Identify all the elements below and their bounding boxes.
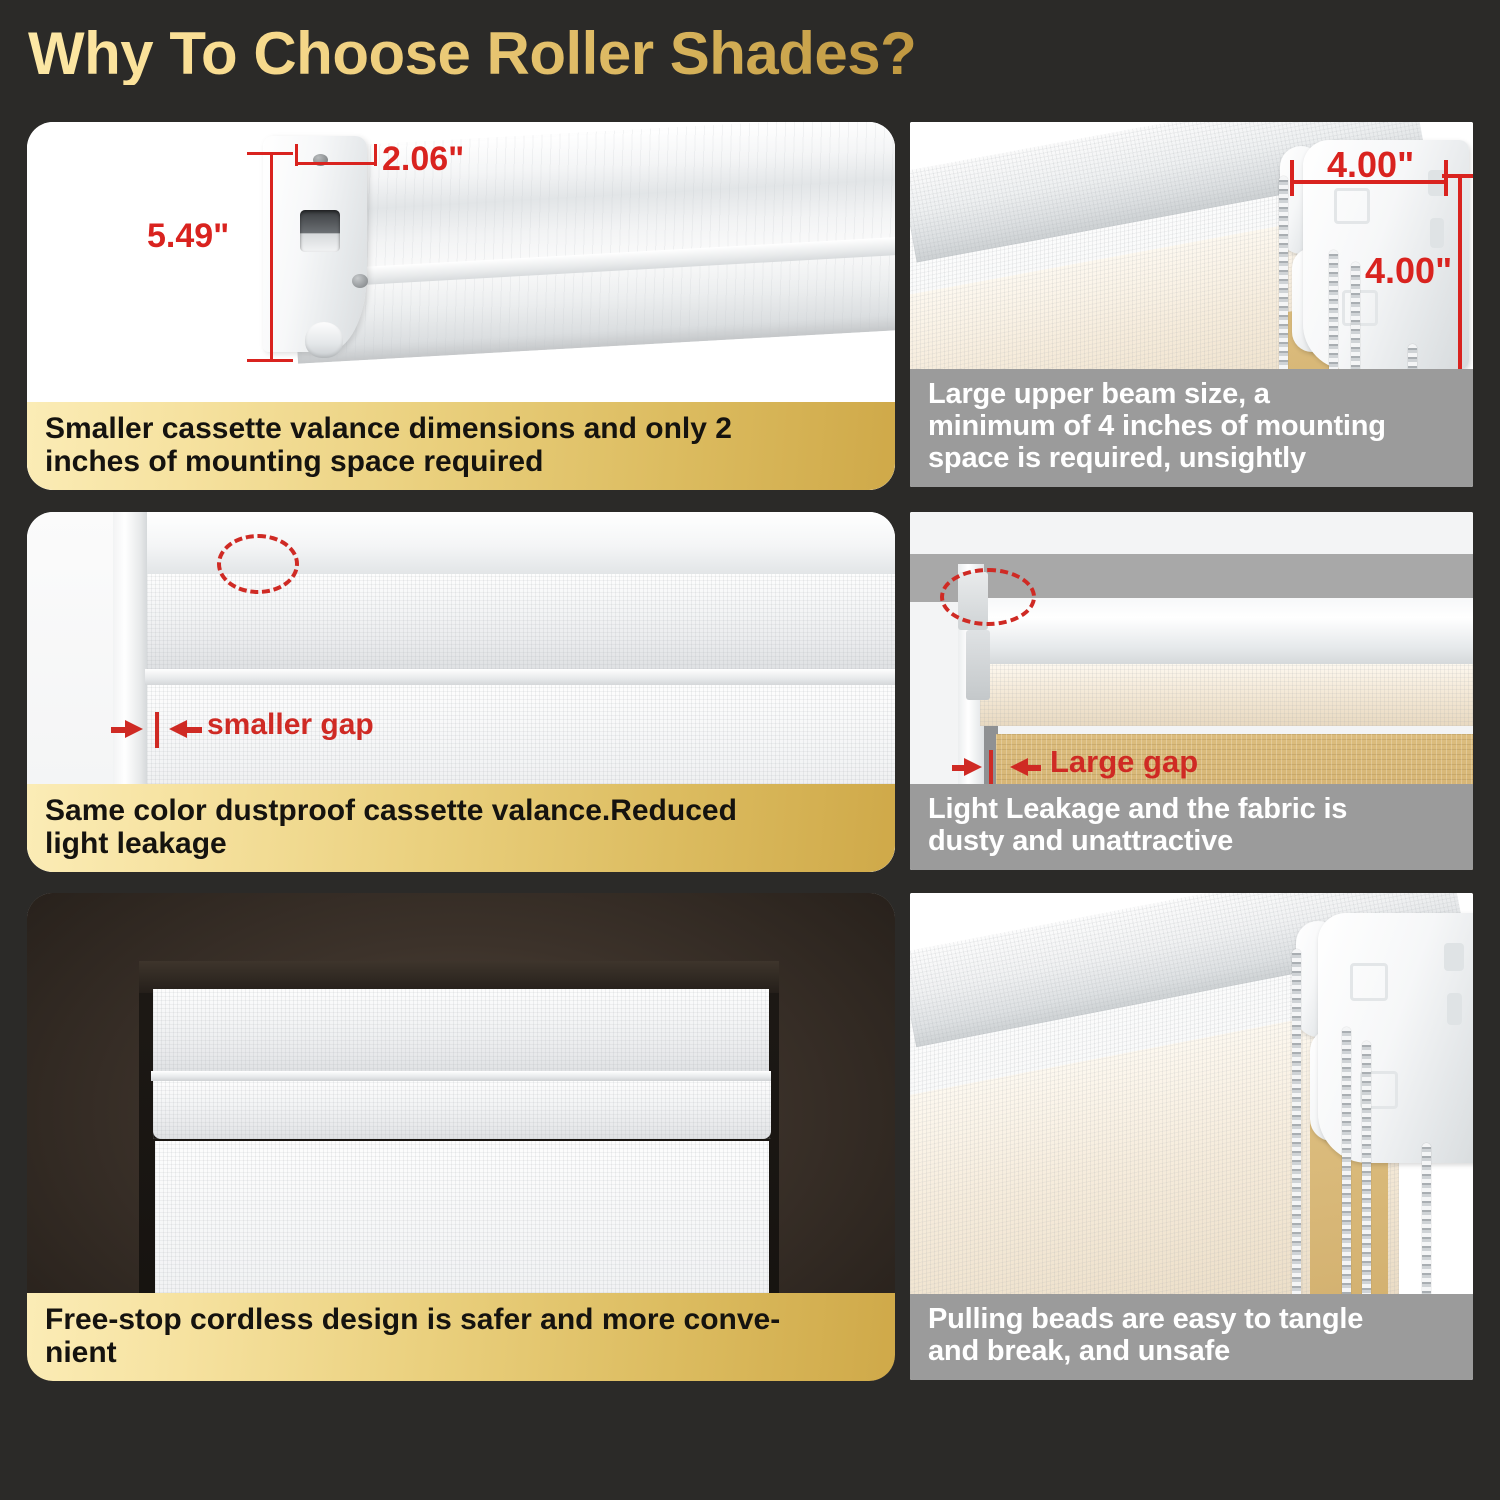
cassette-valance-lower	[153, 1081, 771, 1139]
gap-arrow-right-shaft	[1027, 765, 1041, 771]
dim-vertical-cap-top	[1442, 174, 1473, 178]
roller-tube	[970, 598, 1473, 664]
caption-line: dusty and unattractive	[928, 826, 1455, 858]
caption-line: Smaller cassette valance dimensions and …	[45, 412, 877, 445]
dimension-label-height: 5.49"	[147, 217, 229, 256]
caption-line: and break, and unsafe	[928, 1336, 1455, 1368]
fabric-texture	[286, 122, 895, 364]
bracket-slot-bottom	[1447, 993, 1462, 1025]
annotation-label-smaller-gap: smaller gap	[207, 708, 374, 742]
caption-line: Pulling beads are easy to tangle	[928, 1304, 1455, 1336]
dim-horizontal-cap-right	[374, 144, 377, 166]
dim-vertical-line	[1458, 174, 1462, 374]
panel-pro-smaller-gap: smaller gap Same color dustproof cassett…	[27, 512, 895, 872]
bracket-slot-bottom	[1430, 218, 1444, 248]
caption-pro-smaller-gap: Same color dustproof cassette valance.Re…	[27, 784, 895, 872]
bracket-slot-top	[1444, 943, 1464, 971]
dim-vertical-line	[270, 152, 273, 362]
annotation-label-large-gap: Large gap	[1050, 744, 1198, 780]
cassette-valance-lip	[151, 1071, 771, 1081]
highlight-circle-annotation	[217, 534, 299, 594]
fabric-texture	[153, 989, 769, 1073]
caption-line: nient	[45, 1336, 877, 1369]
gap-arrow-left-shaft	[952, 765, 966, 771]
panel-con-pulling-beads: Pulling beads are easy to tangle and bre…	[910, 893, 1473, 1380]
dim-vertical-cap-bottom	[247, 359, 293, 362]
cream-fabric	[980, 664, 1473, 726]
panel-pro-cordless-design: Free-stop cordless design is safer and m…	[27, 893, 895, 1381]
bracket-emboss-lower-icon	[1342, 290, 1378, 326]
bracket-emboss-icon	[1350, 963, 1388, 1001]
caption-line: Large upper beam size, a	[928, 379, 1455, 411]
gap-arrow-right-shaft	[186, 727, 202, 733]
dim-horizontal-cap-left	[295, 144, 298, 166]
bracket-clip-lower	[966, 630, 990, 700]
caption-line: Same color dustproof cassette valance.Re…	[45, 794, 877, 827]
caption-line: Light Leakage and the fabric is	[928, 794, 1455, 826]
fabric-texture	[980, 664, 1473, 726]
panel-pro-cassette-dimensions: 5.49" 2.06" Smaller cassette valance dim…	[27, 122, 895, 490]
gap-arrow-left-shaft	[111, 727, 127, 733]
caption-line: space is required, unsightly	[928, 443, 1455, 475]
caption-line: minimum of 4 inches of mounting	[928, 411, 1455, 443]
bracket-emboss-icon	[1334, 188, 1370, 224]
panel-con-large-upper-beam: 4.00" 4.00" Large upper beam size, a min…	[910, 122, 1473, 487]
end-cap-slot	[300, 210, 340, 252]
dimension-label-height: 4.00"	[1365, 250, 1452, 292]
caption-con-pulling-beads: Pulling beads are easy to tangle and bre…	[910, 1294, 1473, 1380]
caption-con-large-upper-beam: Large upper beam size, a minimum of 4 in…	[910, 369, 1473, 487]
cassette-valance-face	[153, 989, 769, 1073]
shade-mid-bar	[145, 669, 895, 685]
dim-horizontal-line	[295, 162, 377, 165]
cassette-valance-body	[286, 122, 895, 364]
caption-line: inches of mounting space required	[45, 445, 877, 478]
caption-pro-cordless-design: Free-stop cordless design is safer and m…	[27, 1293, 895, 1381]
gap-arrow-left-icon	[964, 758, 982, 776]
dim-horizontal-cap-left	[1290, 160, 1294, 196]
dim-vertical-cap-top	[247, 152, 293, 155]
panel-con-large-gap: Large gap Light Leakage and the fabric i…	[910, 512, 1473, 870]
gap-arrow-left-icon	[125, 720, 143, 738]
fabric-texture	[153, 1081, 771, 1139]
dim-horizontal-cap-right	[1444, 160, 1448, 196]
caption-line: Free-stop cordless design is safer and m…	[45, 1303, 877, 1336]
end-cap-screw-mid-icon	[352, 274, 368, 288]
highlight-circle-annotation	[940, 568, 1036, 626]
caption-con-large-gap: Light Leakage and the fabric is dusty an…	[910, 784, 1473, 870]
gap-marker-line	[989, 750, 993, 784]
dimension-label-width: 4.00"	[1327, 144, 1414, 186]
caption-pro-cassette-dimensions: Smaller cassette valance dimensions and …	[27, 402, 895, 490]
gap-arrow-right-icon	[1010, 758, 1028, 776]
infographic-page: Why To Choose Roller Shades? 5.49" 2.06"…	[0, 0, 1500, 1500]
caption-line: light leakage	[45, 827, 877, 860]
gap-marker-line	[155, 712, 159, 748]
page-title: Why To Choose Roller Shades?	[28, 22, 916, 85]
gap-arrow-right-icon	[169, 720, 187, 738]
end-cap-knob	[305, 322, 343, 358]
dimension-label-width: 2.06"	[382, 140, 464, 179]
